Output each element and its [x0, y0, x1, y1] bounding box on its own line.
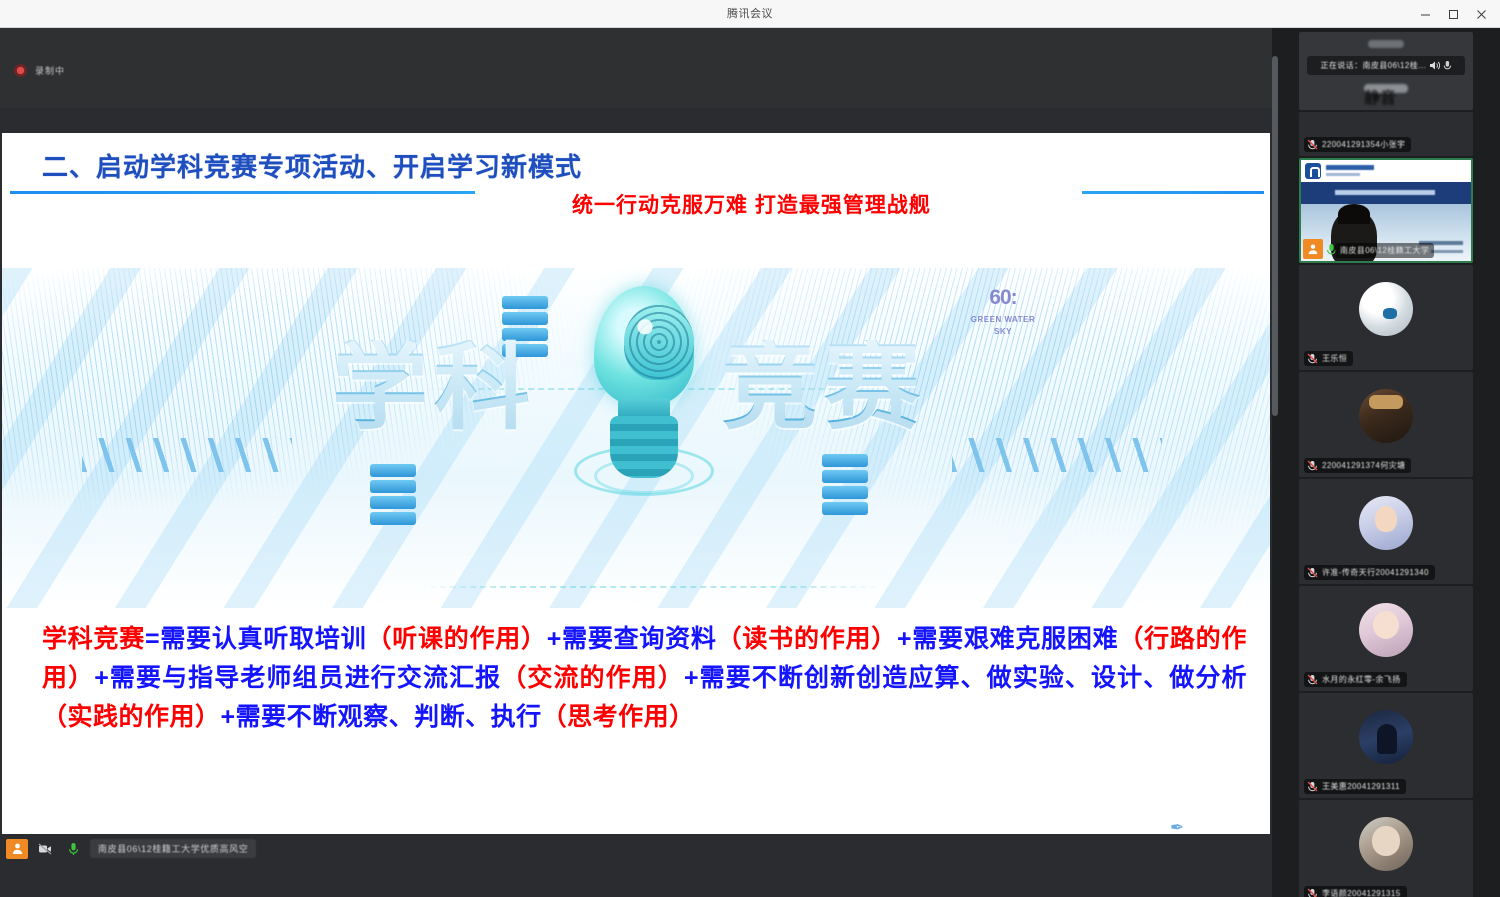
title-rule-right — [1082, 191, 1264, 194]
body-segment-10: （实践的作用） — [42, 703, 221, 731]
speaker-volume-icon — [1430, 60, 1440, 71]
close-icon[interactable] — [1468, 3, 1494, 25]
slash-decor-left — [82, 438, 292, 472]
participant-tile-3[interactable]: 王乐恒 — [1299, 265, 1473, 370]
self-muted-badge: 静音 — [1364, 84, 1408, 93]
body-segment-7: +需要与指导老师组员进行交流汇报 — [94, 664, 501, 692]
mic-muted-icon — [1307, 781, 1318, 792]
maximize-icon[interactable] — [1440, 3, 1466, 25]
participant-name: 李语颜20041291315 — [1322, 888, 1401, 897]
mic-active-icon[interactable] — [62, 839, 84, 859]
participant-tile-6[interactable]: 水月的永红零-余飞扬 — [1299, 586, 1473, 691]
participant-tile-4[interactable]: 220041291374何灾塘 — [1299, 372, 1473, 477]
lightbulb-brain-icon — [580, 286, 708, 536]
body-segment-8: （交流的作用） — [501, 664, 684, 692]
participant-name: 王乐恒 — [1322, 353, 1347, 364]
participant-name: 水月的永红零-余飞扬 — [1322, 674, 1401, 685]
participant-rail: 正在说话：南皮县06\12桂… 静音 220041291354小张宇 — [1272, 28, 1500, 897]
mic-small-icon — [1443, 60, 1452, 71]
participant-name-badge: 许准-传奇天行20041291340 — [1304, 565, 1435, 580]
self-tile-content: 正在说话：南皮县06\12桂… 静音 — [1299, 32, 1473, 110]
app-window: 腾讯会议 录制中 二、启动学科竞赛专项活动、开启学习新模式 — [0, 0, 1500, 897]
video-text-line-2 — [1431, 250, 1463, 253]
minimize-icon[interactable] — [1412, 3, 1438, 25]
camera-off-icon[interactable] — [34, 839, 56, 859]
participant-tile-7[interactable]: 王美惠20041291311 — [1299, 693, 1473, 798]
participant-name-badge: 王美惠20041291311 — [1304, 779, 1406, 794]
body-segment-3: +需要查询资料 — [547, 625, 717, 653]
body-segment-0: 学科竞赛 — [42, 625, 145, 653]
record-dot-icon — [14, 64, 27, 77]
body-segment-5: +需要艰难克服困难 — [897, 625, 1118, 653]
participant-tile-2-video[interactable]: 南皮县06\12桂籍工大学 — [1299, 158, 1473, 263]
body-segment-11: +需要不断观察、判断、执行 — [221, 703, 542, 731]
slide-title: 二、启动学科竞赛专项活动、开启学习新模式 — [42, 147, 582, 184]
avatar — [1359, 710, 1413, 764]
server-stack-icon-2 — [370, 464, 416, 522]
body-segment-12: （思考作用） — [542, 703, 695, 731]
bulb-glass — [594, 286, 694, 406]
body-segment-2: （听课的作用） — [366, 625, 546, 653]
participant-name-badge: 李语颜20041291315 — [1304, 886, 1407, 897]
body-segment-9: +需要不断创新创造应算、做实验、设计、做分析 — [684, 664, 1247, 692]
presentation-slide: 二、启动学科竞赛专项活动、开启学习新模式 统一行动克服万难 打造最强管理战舰 学… — [2, 133, 1270, 858]
active-speaker-pill: 正在说话：南皮县06\12桂… — [1307, 56, 1465, 75]
mic-muted-icon — [1307, 567, 1318, 578]
video-doc-subtitle-line — [1326, 173, 1360, 176]
participant-name: 220041291354小张宇 — [1322, 139, 1405, 150]
mic-muted-icon — [1307, 888, 1318, 897]
window-controls — [1412, 0, 1494, 28]
presenter-badge-icon — [1303, 239, 1323, 259]
video-doc-header — [1301, 160, 1471, 182]
slash-decor-right — [952, 438, 1162, 472]
self-blurred-top — [1368, 40, 1404, 48]
avatar — [1359, 496, 1413, 550]
mic-muted-icon — [1307, 353, 1318, 364]
title-rule-left — [10, 191, 475, 194]
mic-muted-icon — [1307, 139, 1318, 150]
eco-sub: GREEN WATER SKY — [968, 314, 1038, 338]
participant-name-badge: 王乐恒 — [1304, 351, 1353, 366]
hero-word-left: 学科 — [332, 340, 536, 436]
eco-number: 60: — [968, 286, 1038, 310]
participant-name: 许准-传奇天行20041291340 — [1322, 567, 1429, 578]
rail-scrollbar[interactable] — [1272, 56, 1278, 416]
org-logo-icon — [1305, 163, 1321, 179]
active-speaker-label: 正在说话：南皮县06\12桂… — [1320, 60, 1426, 71]
participant-tile-self[interactable]: 正在说话：南皮县06\12桂… 静音 — [1299, 32, 1473, 110]
body-segment-4: （读书的作用） — [717, 625, 897, 653]
mic-muted-icon — [1307, 674, 1318, 685]
slide-hero-illustration: 学科 竞赛 60: GREEN WATER SKY — [2, 268, 1270, 608]
mic-muted-icon — [1307, 460, 1318, 471]
recording-label: 录制中 — [35, 64, 65, 77]
slide-body-text: 学科竞赛=需要认真听取培训（听课的作用）+需要查询资料（读书的作用）+需要艰难克… — [42, 620, 1247, 736]
participant-video-feed: 南皮县06\12桂籍工大学 — [1301, 160, 1471, 261]
window-titlebar: 腾讯会议 — [0, 0, 1500, 28]
participant-tile-8[interactable]: 李语颜20041291315 — [1299, 800, 1473, 897]
brain-icon — [624, 304, 694, 380]
slide-subtitle: 统一行动克服万难 打造最强管理战舰 — [572, 189, 931, 219]
video-doc-title-line — [1326, 165, 1374, 170]
participant-name: 王美惠20041291311 — [1322, 781, 1400, 792]
presenter-avatar-icon — [6, 839, 28, 859]
avatar — [1359, 282, 1413, 336]
share-status-name: 南皮县06\12桂籍工大学优质高风空 — [90, 839, 256, 858]
recording-indicator[interactable]: 录制中 — [14, 64, 65, 77]
body-segment-1: =需要认真听取培训 — [145, 625, 366, 653]
meeting-top-toolbar: 录制中 — [0, 28, 1272, 108]
avatar — [1359, 389, 1413, 443]
meeting-area: 录制中 二、启动学科竞赛专项活动、开启学习新模式 统一行动克服万难 打造最强管理… — [0, 28, 1500, 897]
participant-name-badge: 220041291374何灾塘 — [1304, 458, 1411, 473]
participant-name-badge: 220041291354小张宇 — [1304, 137, 1411, 152]
window-title: 腾讯会议 — [0, 5, 1500, 21]
participant-tile-1[interactable]: 220041291354小张宇 — [1299, 112, 1473, 156]
bulb-base — [610, 416, 678, 478]
participant-tile-5[interactable]: 许准-传奇天行20041291340 — [1299, 479, 1473, 584]
participant-name-badge: 南皮县06\12桂籍工大学 — [1335, 243, 1434, 258]
hero-word-right: 竞赛 — [722, 340, 926, 436]
video-doc-band — [1301, 182, 1471, 204]
participant-name: 南皮县06\12桂籍工大学 — [1340, 245, 1429, 256]
shared-content-region: 二、启动学科竞赛专项活动、开启学习新模式 统一行动克服万难 打造最强管理战舰 学… — [0, 108, 1272, 863]
server-stack-icon-3 — [822, 454, 868, 512]
avatar — [1359, 817, 1413, 871]
participant-name: 220041291374何灾塘 — [1322, 460, 1405, 471]
avatar — [1359, 603, 1413, 657]
share-status-bar: 南皮县06\12桂籍工大学优质高风空 — [0, 834, 1272, 863]
participant-name-badge: 水月的永红零-余飞扬 — [1304, 672, 1407, 687]
eco-watermark: 60: GREEN WATER SKY — [968, 286, 1038, 382]
